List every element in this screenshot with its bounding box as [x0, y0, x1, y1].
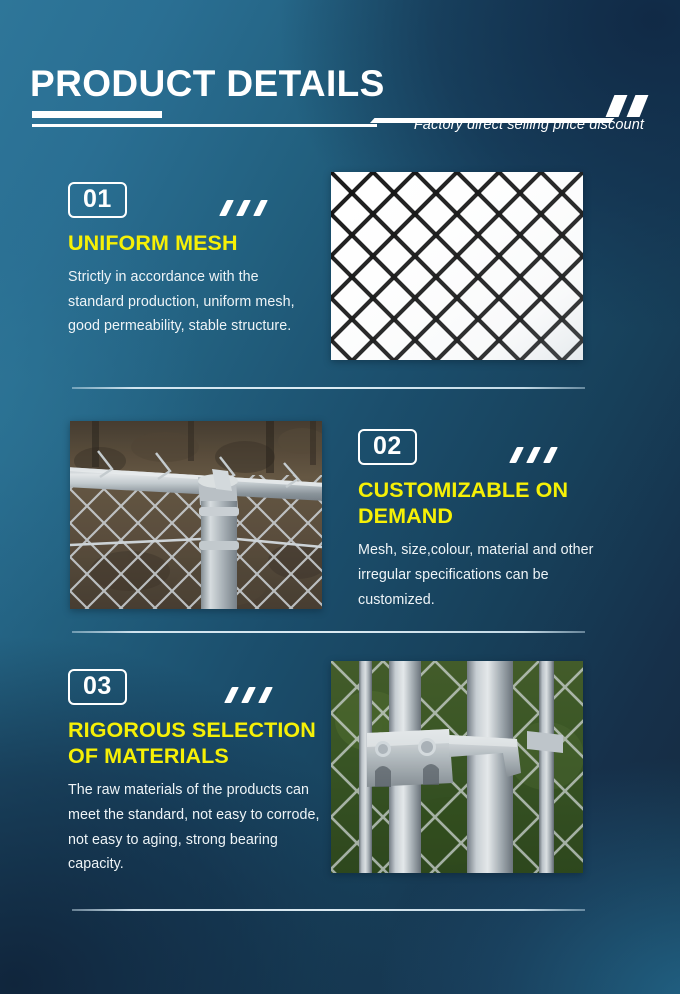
- header-tagline: Factory direct selling price discount: [414, 117, 644, 133]
- section-rigorous-selection: 03 RIGOROUS SELECTION OF MATERIALS The r…: [0, 655, 680, 915]
- header: PRODUCT DETAILS Factory direct selling p…: [0, 0, 680, 150]
- section-3-number-badge: 03: [68, 669, 127, 705]
- section-divider-1: [72, 387, 585, 389]
- product-details-banner: PRODUCT DETAILS Factory direct selling p…: [0, 0, 680, 994]
- gate-latch-hardware-photo: [331, 661, 583, 873]
- three-slashes-icon: [223, 200, 279, 218]
- three-slashes-icon: [228, 687, 284, 705]
- section-divider-2: [72, 631, 585, 633]
- section-3-heading: RIGOROUS SELECTION OF MATERIALS: [68, 717, 330, 769]
- section-1-heading: UNIFORM MESH: [68, 230, 318, 256]
- chain-link-mesh-photo: [331, 172, 583, 360]
- section-2-text: 02 CUSTOMIZABLE ON DEMAND Mesh, size,col…: [358, 429, 608, 612]
- title-underline-thick: [32, 111, 162, 118]
- section-2-heading: CUSTOMIZABLE ON DEMAND: [358, 477, 608, 529]
- section-customizable-on-demand: 02 CUSTOMIZABLE ON DEMAND Mesh, size,col…: [0, 415, 680, 635]
- section-2-body: Mesh, size,colour, material and other ir…: [358, 538, 608, 612]
- section-3-text: 03 RIGOROUS SELECTION OF MATERIALS The r…: [68, 669, 330, 877]
- page-title: PRODUCT DETAILS: [30, 65, 385, 102]
- three-slashes-icon: [513, 447, 569, 465]
- section-1-body: Strictly in accordance with the standard…: [68, 265, 318, 339]
- title-underline-thin: [32, 124, 377, 127]
- section-2-number-badge: 02: [358, 429, 417, 465]
- fence-top-rail-post-photo: [70, 421, 322, 609]
- section-1-number-badge: 01: [68, 182, 127, 218]
- quote-slash-icon: [608, 95, 654, 119]
- section-divider-3: [72, 909, 585, 911]
- section-1-text: 01 UNIFORM MESH Strictly in accordance w…: [68, 182, 318, 339]
- section-3-body: The raw materials of the products can me…: [68, 778, 330, 876]
- section-uniform-mesh: 01 UNIFORM MESH Strictly in accordance w…: [0, 168, 680, 388]
